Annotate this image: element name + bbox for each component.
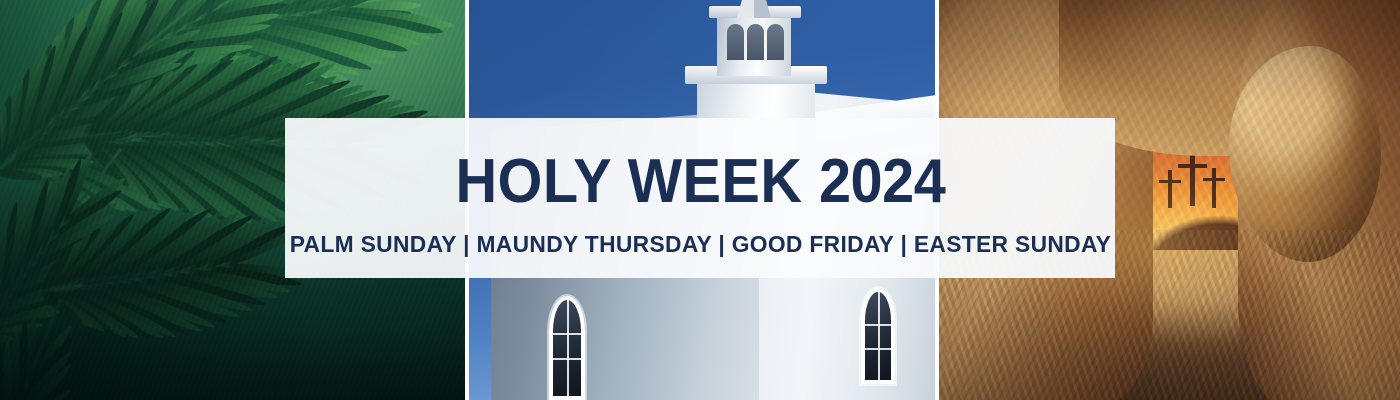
page-title-words: HOLY WEEK <box>455 147 802 216</box>
holy-week-banner: HOLY WEEK 2024 PALM SUNDAY | MAUNDY THUR… <box>0 0 1400 400</box>
page-title-spacer <box>802 147 818 216</box>
page-title-year: 2024 <box>819 147 945 216</box>
page-title: HOLY WEEK 2024 <box>455 151 945 213</box>
page-subtitle: PALM SUNDAY | MAUNDY THURSDAY | GOOD FRI… <box>289 233 1111 257</box>
text-overlay-card: HOLY WEEK 2024 PALM SUNDAY | MAUNDY THUR… <box>285 118 1115 278</box>
